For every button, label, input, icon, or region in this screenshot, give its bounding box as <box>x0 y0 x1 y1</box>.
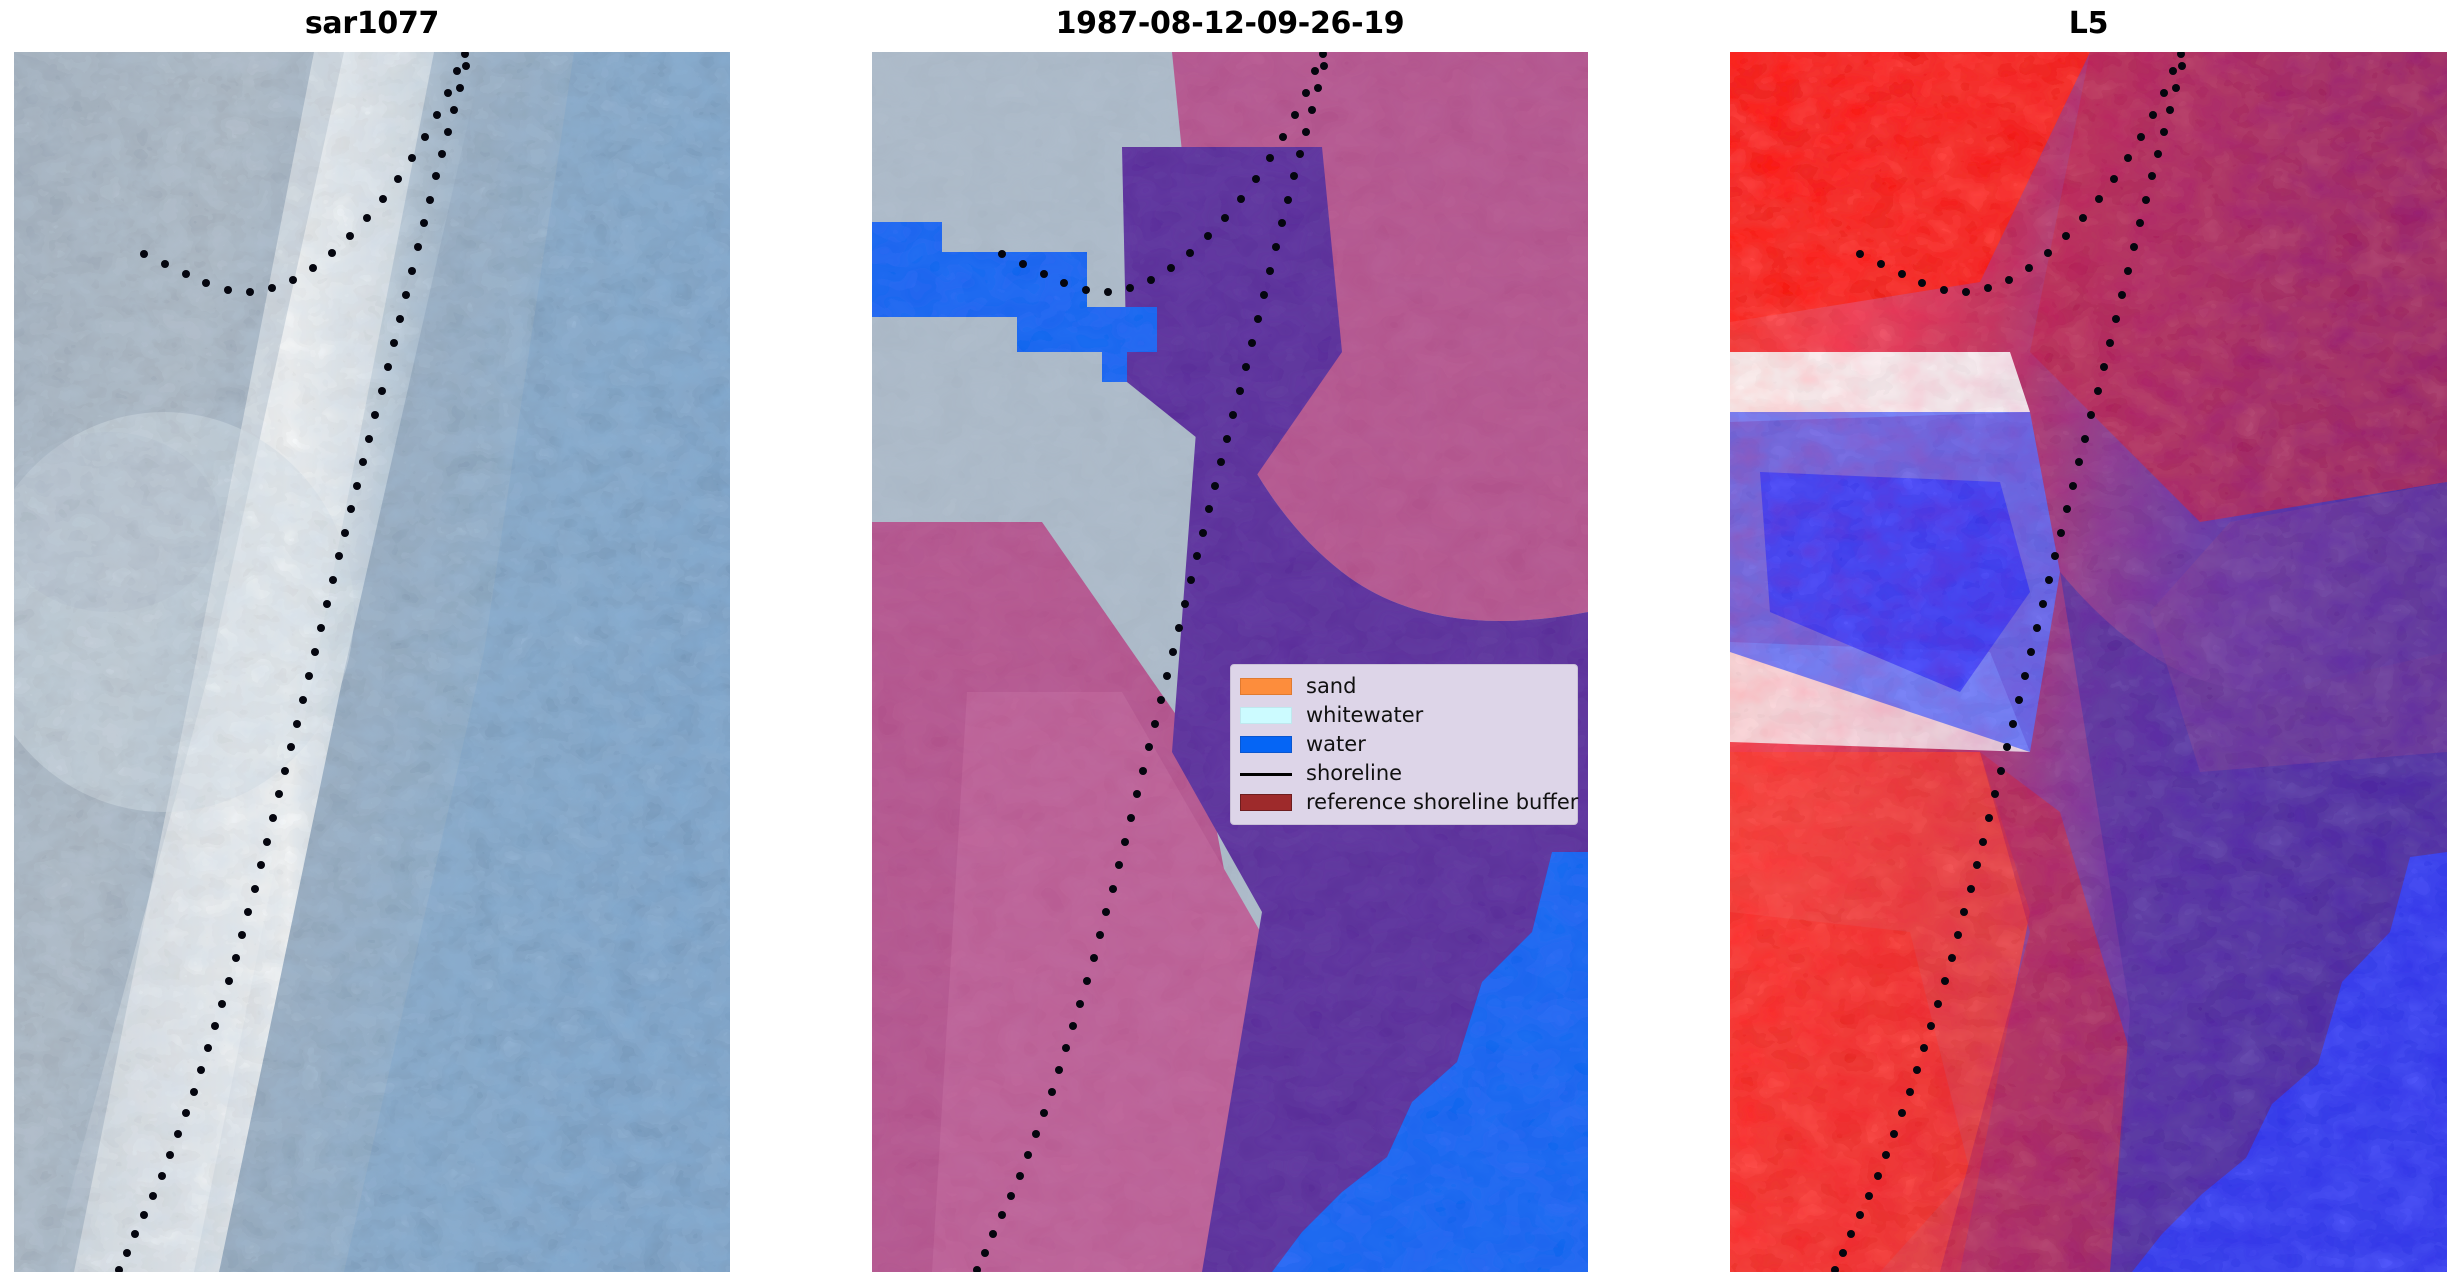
legend-item-shoreline[interactable]: shoreline <box>1240 759 1568 788</box>
sar-raster <box>14 52 730 1272</box>
shoreline-line-icon <box>1240 765 1292 782</box>
legend-label-whitewater: whitewater <box>1306 705 1423 726</box>
legend-item-sand[interactable]: sand <box>1240 672 1568 701</box>
sand-swatch-icon <box>1240 678 1292 695</box>
reference-buffer-swatch-icon <box>1240 794 1292 811</box>
legend-label-sand: sand <box>1306 676 1356 697</box>
classification-raster <box>872 52 1588 1272</box>
panel-sar-image[interactable] <box>14 52 730 1272</box>
legend-label-reference-buffer: reference shoreline buffer <box>1306 792 1578 813</box>
figure-canvas: sar1077 1987-08-12-09-26-19 L5 <box>0 0 2460 1283</box>
panel-classification-image[interactable] <box>872 52 1588 1272</box>
legend-label-water: water <box>1306 734 1366 755</box>
water-swatch-icon <box>1240 736 1292 753</box>
panel-title-date: 1987-08-12-09-26-19 <box>872 6 1588 41</box>
legend-box[interactable]: sand whitewater water shoreline referenc… <box>1230 664 1578 825</box>
legend-item-whitewater[interactable]: whitewater <box>1240 701 1568 730</box>
panel-title-sar: sar1077 <box>14 6 730 41</box>
whitewater-swatch-icon <box>1240 707 1292 724</box>
legend-label-shoreline: shoreline <box>1306 763 1402 784</box>
panel-title-satellite: L5 <box>1730 6 2447 41</box>
legend-item-water[interactable]: water <box>1240 730 1568 759</box>
l5-raster <box>1730 52 2447 1272</box>
panel-l5-image[interactable] <box>1730 52 2447 1272</box>
legend-item-reference-buffer[interactable]: reference shoreline buffer <box>1240 788 1568 817</box>
